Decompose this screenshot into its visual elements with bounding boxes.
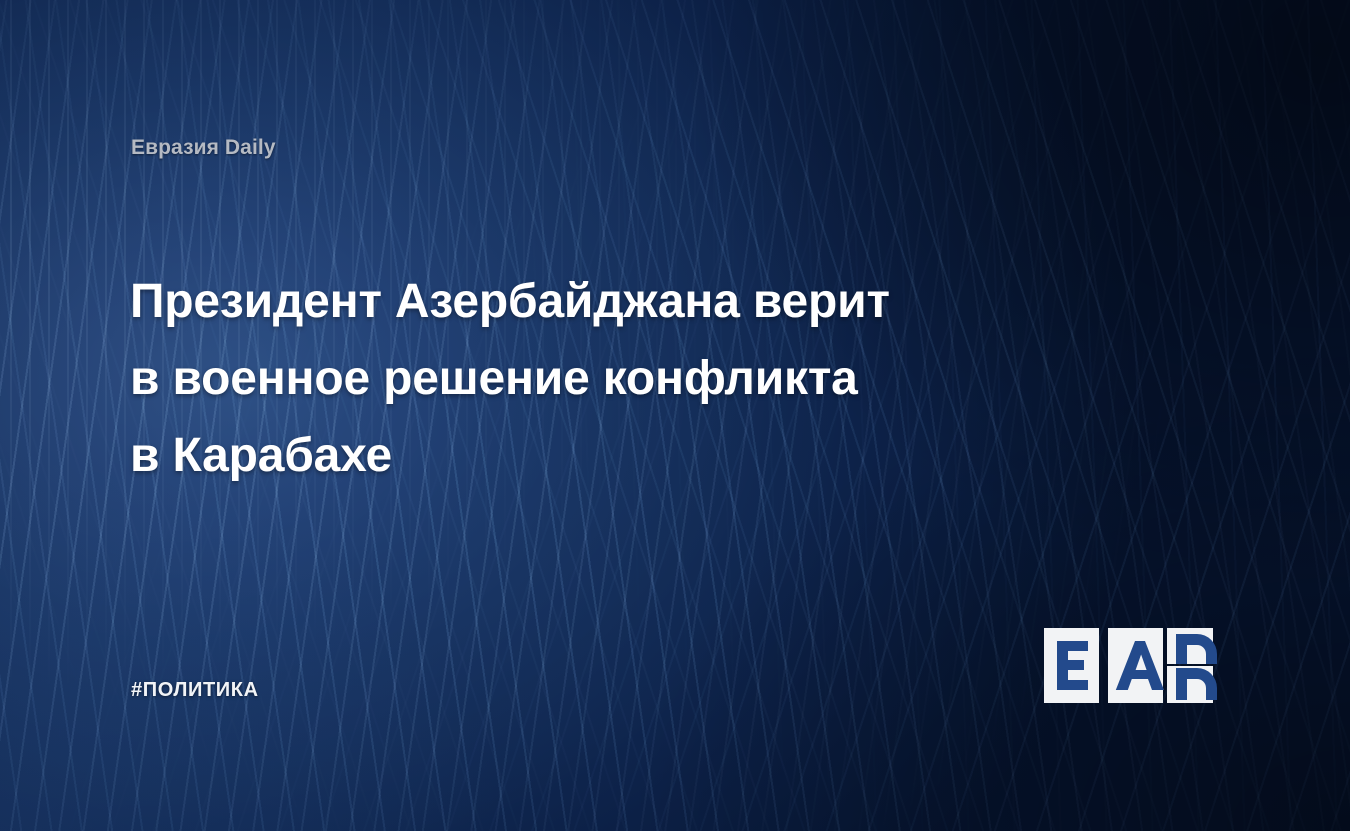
headline-line-2: в военное решение конфликта xyxy=(130,340,1050,417)
brand-name: Евразия Daily xyxy=(131,136,276,160)
headline-line-1: Президент Азербайджана верит xyxy=(130,263,1050,340)
social-share-card: Евразия Daily Президент Азербайджана вер… xyxy=(0,0,1350,831)
page-title: Президент Азербайджана верит в военное р… xyxy=(130,263,1050,494)
category-hashtag[interactable]: #ПОЛИТИКА xyxy=(131,679,259,702)
headline-line-3: в Карабахе xyxy=(130,417,1050,494)
eadaily-logo xyxy=(1043,626,1223,706)
logo-letter-e xyxy=(1057,641,1088,690)
